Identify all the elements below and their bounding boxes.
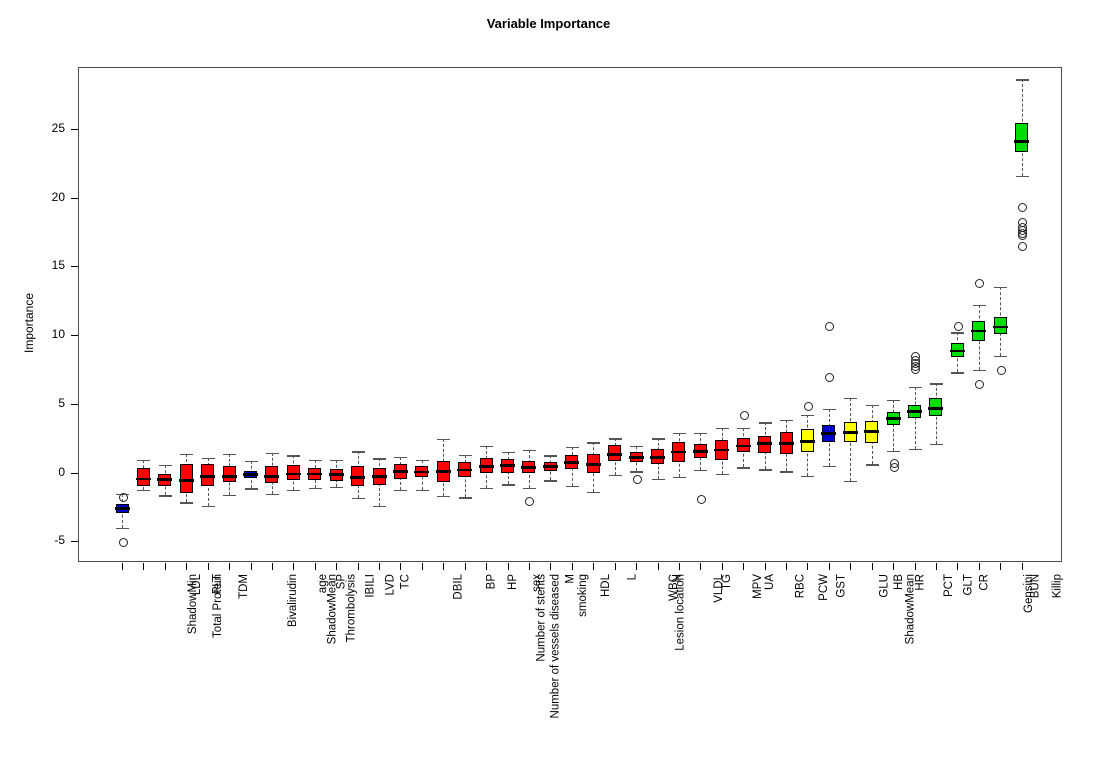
whisker-cap [566,447,579,448]
x-tick-mark [186,563,187,570]
whisker-cap [823,409,836,410]
median-line [928,407,943,410]
x-tick-mark [743,563,744,570]
x-tick-label: M [565,574,577,584]
median-line [629,456,644,459]
x-tick-label: LVD [384,574,396,596]
whisker-cap [459,455,472,456]
x-tick-label: UA [764,574,776,590]
x-tick-mark [315,563,316,570]
median-line [329,473,344,476]
median-line [607,453,622,456]
median-line [907,410,922,413]
x-tick-label: PCW [818,574,830,601]
whisker-cap [866,405,879,406]
median-line [179,479,194,482]
x-tick-label: RBC [794,574,806,598]
outlier-point [119,538,128,547]
whisker-cap [373,506,386,507]
y-tick-label: 10 [33,327,65,341]
x-tick-mark [358,563,359,570]
median-line [1014,140,1029,143]
y-tick-label: 20 [33,190,65,204]
x-tick-label: BP [485,574,497,589]
y-tick-mark [71,198,78,199]
x-tick-label: Killip [1051,574,1063,598]
median-line [950,350,965,353]
whisker-cap [994,356,1007,357]
whisker-cap [544,480,557,481]
x-tick-mark [208,563,209,570]
outlier-point [119,493,128,502]
median-line [971,330,986,333]
median-line [693,450,708,453]
x-tick-label: TG [721,574,733,590]
outlier-point [890,463,899,472]
x-tick-label: LDL [191,574,203,595]
y-tick-mark [71,129,78,130]
median-line [736,445,751,448]
whisker-cap [994,287,1007,288]
whisker-cap [844,398,857,399]
x-tick-mark [529,563,530,570]
median-line [586,463,601,466]
whisker-cap [266,453,279,454]
median-line [115,507,130,510]
whisker-cap [973,370,986,371]
y-tick-label: -5 [33,533,65,547]
whisker-cap [266,494,279,495]
whisker-cap [630,471,643,472]
whisker-cap [801,415,814,416]
median-line [436,470,451,473]
whisker-cap [416,490,429,491]
x-tick-label: TC [399,574,411,589]
whisker-cap [544,455,557,456]
whisker-cap [630,446,643,447]
x-tick-mark [508,563,509,570]
whisker-cap [587,492,600,493]
y-tick-label: 25 [33,121,65,135]
median-line [307,473,322,476]
x-tick-mark [379,563,380,570]
whisker-cap [759,469,772,470]
median-line [543,465,558,468]
x-tick-mark [1000,563,1001,570]
x-tick-mark [165,563,166,570]
x-tick-mark [636,563,637,570]
whisker-cap [480,446,493,447]
median-line [714,449,729,452]
x-tick-mark [872,563,873,570]
whisker-cap [930,383,943,384]
x-tick-label: sex [530,574,542,592]
outlier-point [954,322,963,331]
median-line [200,475,215,478]
x-tick-mark [936,563,937,570]
whisker-cap [609,475,622,476]
whisker-cap [951,372,964,373]
whisker-cap [137,490,150,491]
whisker-cap [180,454,193,455]
whisker-cap [137,460,150,461]
x-tick-mark [272,563,273,570]
whisker-cap [694,433,707,434]
whisker-cap [652,438,665,439]
outlier-point [911,365,920,374]
whisker-cap [652,479,665,480]
whisker-cap [202,458,215,459]
x-tick-mark [422,563,423,570]
median-line [157,478,172,481]
median-line [800,440,815,443]
x-tick-mark [251,563,252,570]
median-line [500,464,515,467]
y-axis-label: Importance [22,292,36,352]
whisker-cap [1016,176,1029,177]
median-line [779,442,794,445]
median-line [264,475,279,478]
whisker-cap [523,450,536,451]
outlier-point [975,279,984,288]
x-tick-label: HDL [600,574,612,597]
chart-title: Variable Importance [0,16,1097,31]
x-tick-label: SP [335,574,347,589]
median-line [372,475,387,478]
outlier-point [697,495,706,504]
x-tick-label: CR [979,574,991,591]
x-tick-mark [786,563,787,570]
median-line [222,475,237,478]
whisker-cap [737,467,750,468]
x-tick-mark [979,563,980,570]
y-tick-mark [71,404,78,405]
x-tick-label: IBILI [365,574,377,598]
whisker-cap [973,305,986,306]
x-tick-mark [765,563,766,570]
whisker-cap [502,452,515,453]
whisker-cap [352,498,365,499]
whisker-cap [330,460,343,461]
median-line [564,461,579,464]
x-tick-label: age [318,574,330,593]
x-tick-mark [400,563,401,570]
whisker-cap [566,486,579,487]
x-tick-mark [700,563,701,570]
whisker-cap [694,470,707,471]
y-tick-label: 5 [33,396,65,410]
whisker-cap [180,502,193,503]
whisker-cap [759,422,772,423]
median-line [521,466,536,469]
median-line [286,473,301,476]
median-line [479,465,494,468]
whisker-cap [523,488,536,489]
whisker-cap [159,495,172,496]
x-tick-mark [807,563,808,570]
whisker-cap [159,465,172,466]
whisker-cap [309,460,322,461]
x-tick-mark [336,563,337,570]
whisker-cap [480,488,493,489]
whisker-cap [245,488,258,489]
whisker-cap [459,497,472,498]
x-tick-mark [443,563,444,570]
whisker-cap [587,442,600,443]
box [1015,123,1028,152]
whisker-cap [801,476,814,477]
x-tick-label: BUN [1030,574,1042,598]
y-tick-mark [71,266,78,267]
x-tick-mark [572,563,573,570]
whisker-cap [780,420,793,421]
whisker-cap [673,477,686,478]
outlier-point [975,380,984,389]
whisker-cap [223,454,236,455]
median-line [650,456,665,459]
x-tick-mark [593,563,594,570]
whisker-cap [930,444,943,445]
whisker-cap [394,490,407,491]
x-tick-label: PCT [943,574,955,597]
whisker-cap [951,332,964,333]
x-tick-label: MPV [752,574,764,599]
whisker-cap [887,451,900,452]
x-tick-label: GLT [962,574,974,596]
x-tick-mark [465,563,466,570]
whisker-cap [287,455,300,456]
x-tick-mark [722,563,723,570]
median-line [886,417,901,420]
whisker-cap [245,461,258,462]
x-tick-mark [122,563,123,570]
x-tick-label: L [626,574,638,580]
median-line [414,471,429,474]
median-line [393,470,408,473]
whisker-cap [437,496,450,497]
whisker-cap [737,428,750,429]
box-whisker [915,387,916,449]
median-line [136,478,151,481]
x-tick-mark [893,563,894,570]
whisker-cap [609,438,622,439]
whisker-cap [502,484,515,485]
x-tick-label: Number of vessels diseased [550,574,562,718]
whisker-cap [287,490,300,491]
x-tick-mark [550,563,551,570]
outlier-point [633,475,642,484]
whisker-cap [437,439,450,440]
median-line [821,432,836,435]
x-tick-mark [915,563,916,570]
whisker-cap [373,458,386,459]
x-tick-mark [679,563,680,570]
y-tick-mark [71,473,78,474]
whisker-cap [202,506,215,507]
whisker-cap [1016,79,1029,80]
whisker-cap [780,471,793,472]
whisker-cap [823,466,836,467]
y-tick-label: 0 [33,465,65,479]
whisker-cap [866,464,879,465]
whisker-cap [716,474,729,475]
whisker-cap [223,495,236,496]
median-line [457,469,472,472]
box-whisker [893,400,894,451]
x-tick-label: GLU [879,574,891,598]
x-tick-label: Bivalirudin [287,574,299,627]
whisker-cap [716,428,729,429]
median-line [864,430,879,433]
x-tick-mark [143,563,144,570]
outlier-point [997,366,1006,375]
median-line [350,476,365,479]
x-tick-label: HB [893,574,905,590]
whisker-cap [394,457,407,458]
x-tick-label: smoking [577,574,589,617]
whisker-cap [116,528,129,529]
plot-frame [78,67,1062,562]
whisker-cap [909,449,922,450]
x-tick-label: HP [507,574,519,590]
whisker-cap [673,433,686,434]
median-line [993,326,1008,329]
whisker-cap [844,481,857,482]
whisker-cap [352,451,365,452]
x-tick-mark [957,563,958,570]
y-tick-mark [71,541,78,542]
x-tick-label: TDM [238,574,250,599]
y-tick-mark [71,335,78,336]
x-tick-mark [658,563,659,570]
median-line [843,431,858,434]
median-line [757,442,772,445]
x-tick-label: HR [915,574,927,591]
chart-canvas: Variable Importance Importance -50510152… [0,0,1097,768]
whisker-cap [330,487,343,488]
whisker-cap [309,488,322,489]
x-tick-label: PLT [212,574,224,594]
median-line [243,473,258,476]
x-tick-mark [293,563,294,570]
y-tick-label: 15 [33,258,65,272]
x-tick-mark [1022,563,1023,570]
x-tick-mark [229,563,230,570]
x-tick-mark [615,563,616,570]
x-tick-mark [829,563,830,570]
whisker-cap [909,387,922,388]
median-line [671,451,686,454]
whisker-cap [416,460,429,461]
x-tick-label: GST [836,574,848,598]
x-tick-mark [486,563,487,570]
x-tick-label: DBIL [452,574,464,600]
x-tick-label: N [671,574,683,582]
x-tick-mark [850,563,851,570]
whisker-cap [887,400,900,401]
